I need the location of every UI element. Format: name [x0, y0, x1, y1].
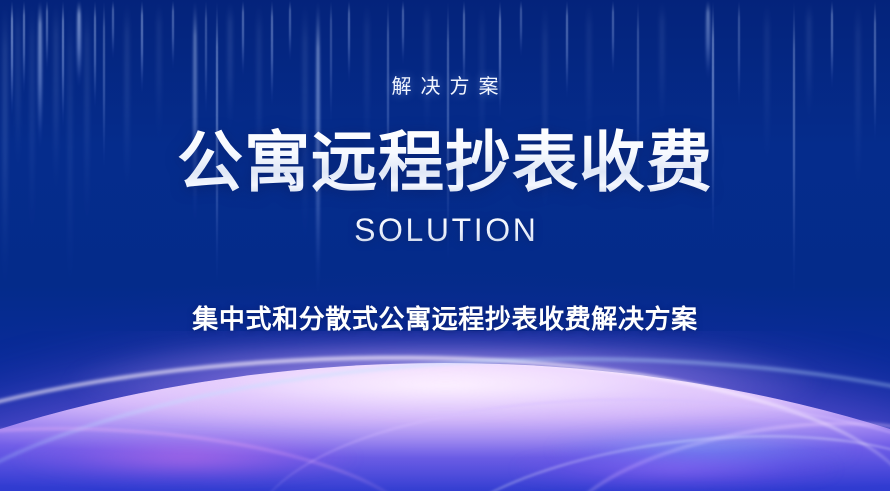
eyebrow-label: 解决方案	[383, 74, 508, 100]
slide-subtitle: 集中式和分散式公寓远程抄表收费解决方案	[192, 302, 697, 336]
slide-content: 解决方案 公寓远程抄表收费 SOLUTION 集中式和分散式公寓远程抄表收费解决…	[0, 0, 890, 491]
solution-subheading: SOLUTION	[352, 212, 539, 248]
solution-cover-slide: 解决方案 公寓远程抄表收费 SOLUTION 集中式和分散式公寓远程抄表收费解决…	[0, 0, 890, 491]
page-title: 公寓远程抄表收费	[177, 126, 713, 198]
